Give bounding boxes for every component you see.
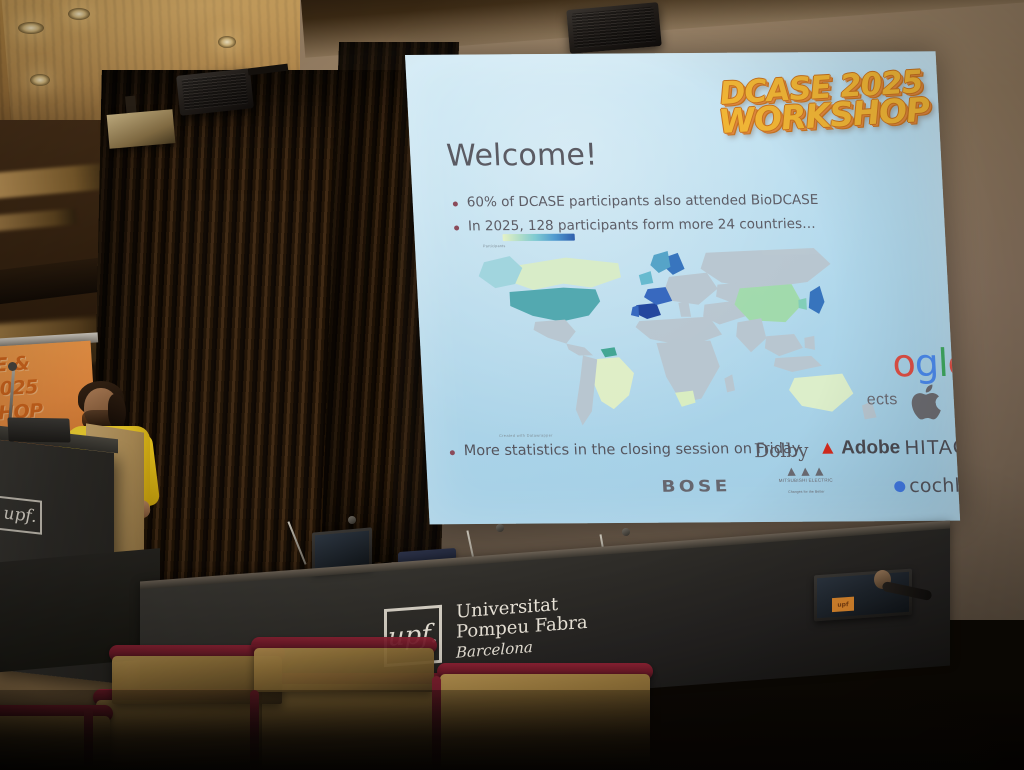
bullet-text: 60% of DCASE participants also attended … bbox=[466, 192, 818, 211]
desk-microphone-head[interactable] bbox=[622, 528, 630, 536]
bullet-text: In 2025, 128 participants form more 24 c… bbox=[468, 216, 816, 235]
mitsubishi-mark-icon: ▲▲▲ bbox=[757, 463, 854, 478]
ceiling-speaker bbox=[176, 68, 254, 116]
world-map-chart: Participants bbox=[468, 229, 909, 440]
slide-bullet-list: 60% of DCASE participants also attended … bbox=[452, 192, 885, 243]
seated-person-arm bbox=[882, 581, 933, 601]
country-canada bbox=[510, 257, 622, 290]
auditorium-photo: DCASE 2025 WORKSHOP Welcome! 60% of DCAS… bbox=[0, 0, 1024, 770]
country-philippines bbox=[804, 336, 815, 350]
country-venezuela bbox=[601, 347, 618, 357]
desk-microphone-head[interactable] bbox=[496, 524, 504, 532]
country-australia bbox=[788, 374, 854, 412]
speaker-grill bbox=[182, 73, 249, 111]
speaker-grill bbox=[572, 6, 657, 48]
bullet-dot-icon bbox=[450, 450, 455, 455]
monitor-upf-sticker: upf bbox=[832, 597, 854, 613]
bullet-dot-icon bbox=[454, 225, 459, 230]
mitsubishi-logo: ▲▲▲ MITSUBISHI ELECTRIC Changes for the … bbox=[757, 463, 855, 494]
mitsubishi-tagline: Changes for the Better bbox=[758, 489, 854, 494]
foreground-shadow bbox=[0, 690, 1024, 770]
google-logo: ogle bbox=[891, 341, 960, 385]
country-uk bbox=[639, 271, 654, 285]
projects-logo-text: ects bbox=[866, 391, 898, 409]
country-usa bbox=[509, 287, 601, 322]
country-korea bbox=[798, 298, 807, 310]
cochl-label: cochl. bbox=[909, 475, 961, 497]
lectern-laptop bbox=[7, 417, 70, 442]
country-europe-central bbox=[665, 273, 719, 305]
country-indonesia bbox=[773, 356, 822, 372]
lectern-upf-logo: upf. bbox=[0, 496, 42, 535]
upf-logo-name: Universitat Pompeu Fabra Barcelona bbox=[456, 593, 588, 662]
ceiling-downlight bbox=[18, 22, 44, 34]
ceiling-downlight bbox=[30, 74, 50, 86]
country-japan bbox=[808, 286, 825, 314]
dcase-logo-line2: WORKSHOP bbox=[717, 94, 931, 137]
desk-microphone-head[interactable] bbox=[348, 516, 356, 524]
country-madagascar bbox=[724, 374, 735, 392]
seat-back bbox=[254, 648, 434, 692]
cochl-logo: cochl. bbox=[894, 475, 961, 497]
apple-logo-icon bbox=[909, 381, 948, 430]
country-brazil bbox=[591, 357, 636, 409]
banner-line-2: SE 2025 bbox=[0, 376, 39, 403]
slide-bottom-bullet: More statistics in the closing session o… bbox=[449, 439, 920, 460]
bose-logo: BOSE bbox=[661, 476, 731, 495]
monitor-screen bbox=[315, 531, 369, 570]
ceiling-downlight bbox=[68, 8, 90, 20]
bullet-text: More statistics in the closing session o… bbox=[463, 440, 801, 460]
country-southafrica bbox=[675, 391, 696, 407]
apple-glyph bbox=[909, 381, 947, 423]
audience-seat[interactable] bbox=[254, 648, 434, 692]
mitsubishi-label: MITSUBISHI ELECTRIC bbox=[758, 477, 854, 483]
cochl-dot-icon bbox=[894, 481, 906, 492]
country-southamerica-west bbox=[573, 355, 601, 425]
list-item: In 2025, 128 participants form more 24 c… bbox=[454, 215, 885, 235]
country-portugal bbox=[630, 305, 639, 317]
country-mexico bbox=[533, 320, 576, 344]
country-india bbox=[735, 318, 767, 352]
slide-title: Welcome! bbox=[445, 138, 598, 174]
projection-screen: DCASE 2025 WORKSHOP Welcome! 60% of DCAS… bbox=[405, 51, 960, 524]
ceiling-projector bbox=[107, 109, 176, 149]
lectern-microphone-head bbox=[8, 362, 17, 371]
country-seasia bbox=[764, 334, 803, 356]
bullet-dot-icon bbox=[453, 201, 458, 206]
presenter-hair-side bbox=[108, 394, 126, 428]
list-item: 60% of DCASE participants also attended … bbox=[452, 192, 883, 212]
country-centralamerica bbox=[566, 343, 593, 355]
seated-person-right bbox=[872, 570, 932, 616]
world-map-svg bbox=[469, 241, 909, 434]
presentation-slide: DCASE 2025 WORKSHOP Welcome! 60% of DCAS… bbox=[405, 51, 960, 524]
ceiling-speaker bbox=[566, 2, 661, 54]
map-credit: Created with Datawrapper bbox=[499, 434, 553, 438]
dcase-workshop-logo: DCASE 2025 WORKSHOP bbox=[714, 68, 926, 137]
ceiling-downlight bbox=[218, 36, 236, 48]
